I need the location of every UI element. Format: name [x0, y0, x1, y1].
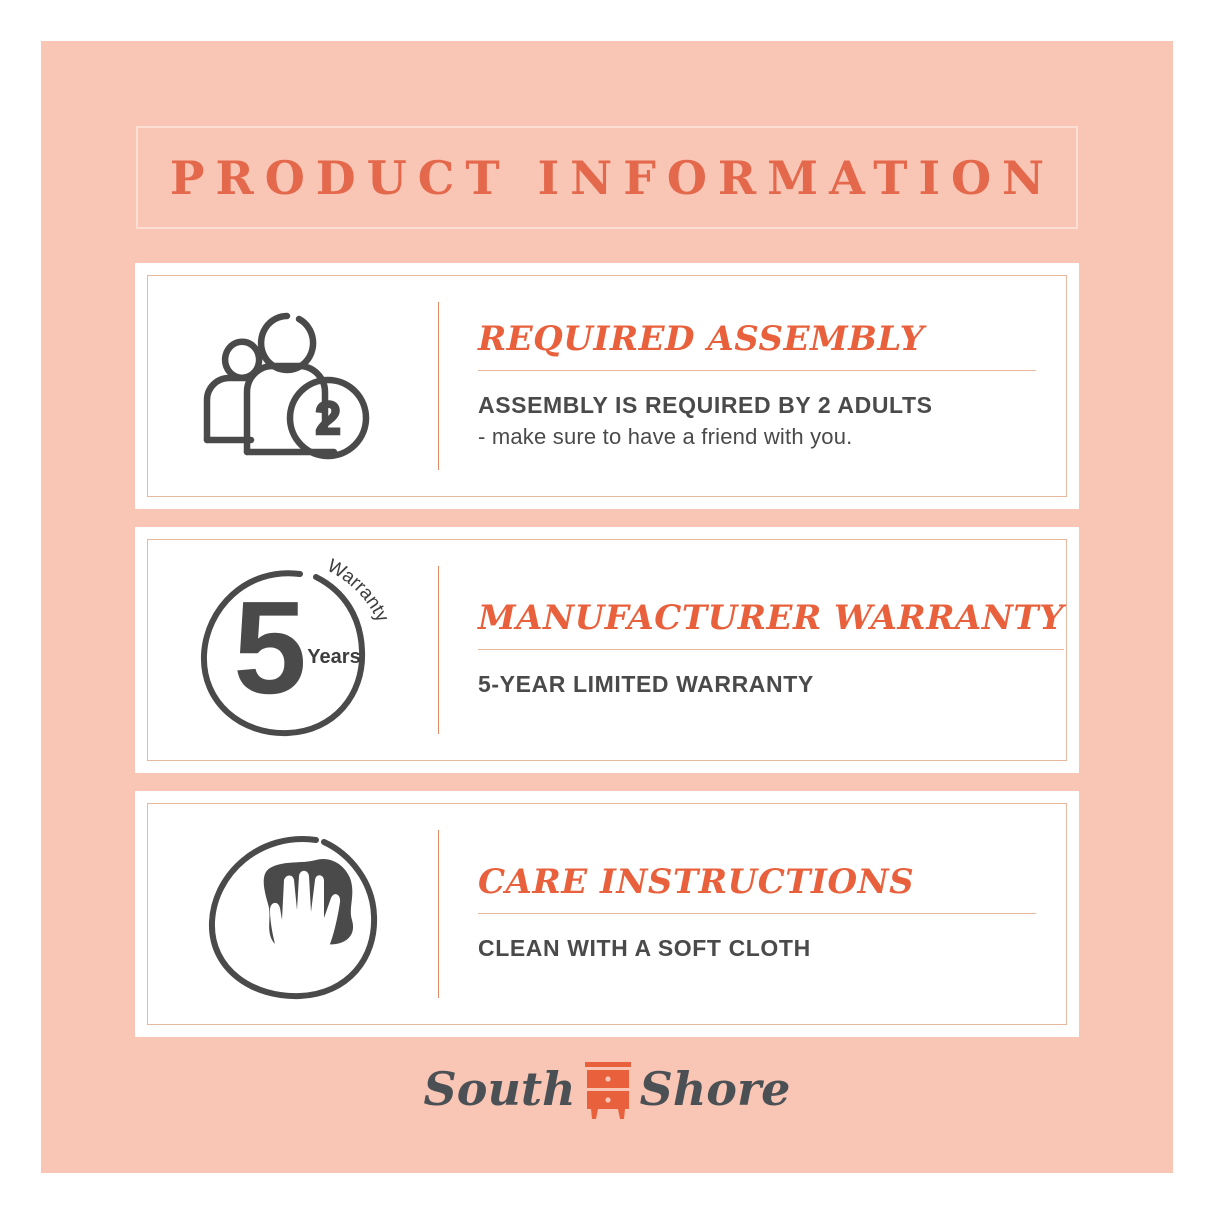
card-headline: REQUIRED ASSEMBLY	[478, 322, 1036, 358]
icon-text-divider	[438, 302, 439, 470]
icon-badge-number: 2	[316, 394, 340, 443]
icon-column	[148, 804, 438, 1024]
headline-rule	[478, 370, 1036, 371]
card-inner: 5 Years Warranty MANUFACTURER W	[147, 539, 1067, 761]
peach-canvas: PRODUCT INFORMATION	[41, 41, 1173, 1173]
warranty-circle-icon: 5 Years Warranty	[188, 555, 398, 745]
icon-text-divider	[438, 830, 439, 998]
hand-cloth-icon	[198, 824, 388, 1004]
brand-logo: South Shore	[0, 1058, 1214, 1120]
card-care-instructions: CARE INSTRUCTIONS CLEAN WITH A SOFT CLOT…	[135, 791, 1079, 1037]
page-title-box: PRODUCT INFORMATION	[136, 126, 1078, 229]
nightstand-icon	[582, 1058, 634, 1120]
headline-rule	[478, 649, 1064, 650]
card-inner: CARE INSTRUCTIONS CLEAN WITH A SOFT CLOT…	[147, 803, 1067, 1025]
card-manufacturer-warranty: 5 Years Warranty MANUFACTURER W	[135, 527, 1079, 773]
text-column: CARE INSTRUCTIONS CLEAN WITH A SOFT CLOT…	[438, 865, 1066, 963]
card-body-strong: CLEAN WITH A SOFT CLOTH	[478, 934, 1036, 963]
logo-word-shore: Shore	[640, 1066, 791, 1112]
page-title: PRODUCT INFORMATION	[159, 151, 1055, 205]
card-inner: 2 REQUIRED ASSEMBLY ASSEMBLY IS REQUIRED…	[147, 275, 1067, 497]
icon-column: 5 Years Warranty	[148, 540, 438, 760]
product-information-graphic: PRODUCT INFORMATION	[0, 0, 1214, 1214]
text-column: REQUIRED ASSEMBLY ASSEMBLY IS REQUIRED B…	[438, 322, 1066, 451]
card-headline: CARE INSTRUCTIONS	[478, 865, 1036, 901]
headline-rule	[478, 913, 1036, 914]
card-required-assembly: 2 REQUIRED ASSEMBLY ASSEMBLY IS REQUIRED…	[135, 263, 1079, 509]
card-body-strong: ASSEMBLY IS REQUIRED BY 2 ADULTS	[478, 391, 1036, 420]
card-body-normal: - make sure to have a friend with you.	[478, 423, 1036, 451]
warranty-unit-label: Years	[307, 646, 360, 668]
icon-text-divider	[438, 566, 439, 734]
card-body-strong: 5-YEAR LIMITED WARRANTY	[478, 670, 1064, 699]
warranty-number: 5	[233, 574, 306, 721]
icon-column: 2	[148, 276, 438, 496]
card-headline: MANUFACTURER WARRANTY	[478, 601, 1064, 637]
text-column: MANUFACTURER WARRANTY 5-YEAR LIMITED WAR…	[438, 601, 1094, 699]
two-people-icon: 2	[195, 306, 391, 466]
logo-word-south: South	[424, 1066, 576, 1112]
